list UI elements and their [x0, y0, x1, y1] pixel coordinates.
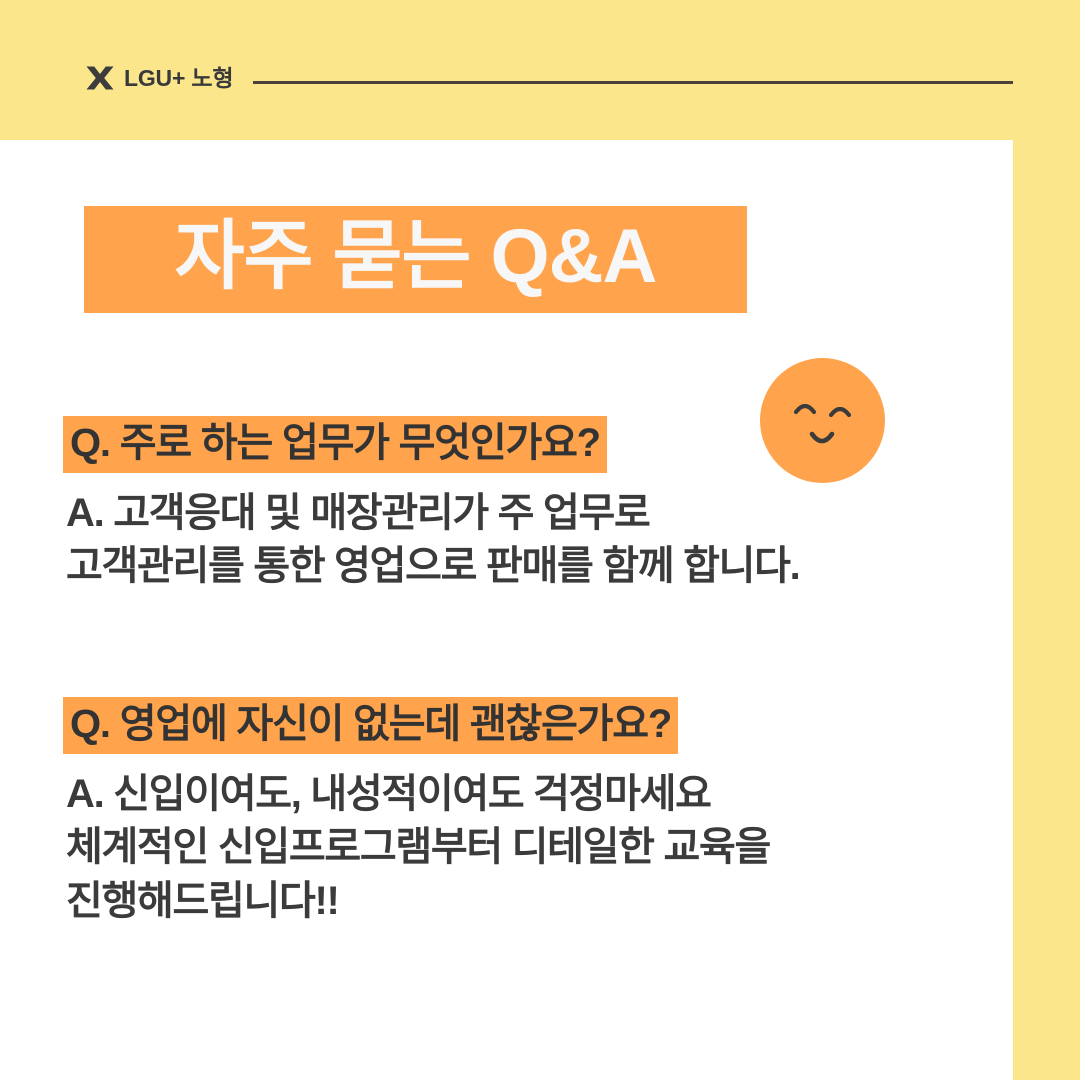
qa-block: Q. 영업에 자신이 없는데 괜찮은가요? A. 신입이여도, 내성적이여도 걱… [63, 697, 770, 928]
answer-line: 진행해드립니다!! [66, 875, 770, 928]
title-banner: 자주 묻는 Q&A [84, 206, 747, 313]
qa-block: Q. 주로 하는 업무가 무엇인가요? A. 고객응대 및 매장관리가 주 업무… [63, 416, 799, 594]
answer-line: 체계적인 신입프로그램부터 디테일한 교육을 [66, 821, 770, 874]
poster-root: LGU+ 노형 자주 묻는 Q&A Q. 주로 하는 업무가 무엇인가요? A.… [0, 0, 1080, 1080]
answer-body: A. 고객응대 및 매장관리가 주 업무로 고객관리를 통한 영업으로 판매를 … [63, 487, 799, 593]
header-divider-rule [253, 81, 1013, 84]
answer-body: A. 신입이여도, 내성적이여도 걱정마세요 체계적인 신입프로그램부터 디테일… [63, 768, 770, 928]
answer-line: A. 고객응대 및 매장관리가 주 업무로 [66, 487, 799, 540]
answer-line: A. 신입이여도, 내성적이여도 걱정마세요 [66, 768, 770, 821]
brand-header: LGU+ 노형 [0, 0, 1080, 140]
brand-name: LGU+ 노형 [124, 67, 233, 90]
answer-line: 고객관리를 통한 영업으로 판매를 함께 합니다. [66, 540, 799, 593]
brand-lockup: LGU+ 노형 [86, 61, 233, 95]
question-text: Q. 영업에 자신이 없는데 괜찮은가요? [63, 697, 678, 754]
question-text: Q. 주로 하는 업무가 무엇인가요? [63, 416, 607, 473]
lg-x-logo-icon [86, 65, 114, 91]
page-title: 자주 묻는 Q&A [84, 206, 747, 313]
